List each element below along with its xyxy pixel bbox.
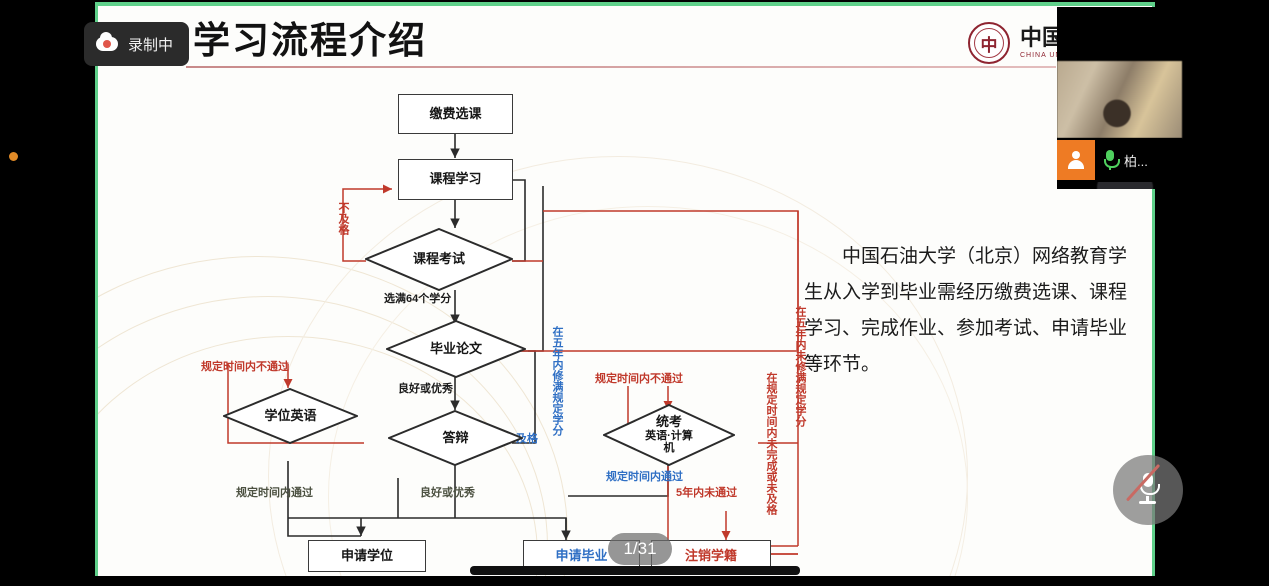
screen-share-stage: 学习流程介绍 中国 CHINA UNIV 中国石油大学（北京）网络教育学生从入学… <box>0 0 1269 586</box>
video-feed <box>1057 61 1182 138</box>
cloud-record-icon <box>96 37 118 51</box>
edge-label-good-or-excellent-2: 良好或优秀 <box>420 484 475 500</box>
presentation-slide[interactable]: 学习流程介绍 中国 CHINA UNIV 中国石油大学（北京）网络教育学生从入学… <box>95 2 1155 582</box>
edge-label-credits-5y-blue: 在五年内修满规定学分 <box>549 326 565 436</box>
edge-label-good-or-excellent-1: 良好或优秀 <box>398 380 453 396</box>
node-defense: 答辩 <box>388 410 523 466</box>
edge-label-credits-64: 选满64个学分 <box>384 290 451 306</box>
edge-label-not-pass-5y: 5年内未通过 <box>676 484 737 500</box>
node-thesis: 毕业论文 <box>386 320 526 378</box>
edge-label-incomplete-red: 在规定时间内未完成或未及格 <box>763 372 779 515</box>
node-apply-degree: 申请学位 <box>308 540 426 572</box>
node-thesis-label: 毕业论文 <box>430 342 482 357</box>
slide-canvas: 学习流程介绍 中国 CHINA UNIV 中国石油大学（北京）网络教育学生从入学… <box>98 6 1152 579</box>
person-icon <box>1057 140 1095 180</box>
flowchart: 缴费选课 课程学习 课程考试 毕业论文 学位英语 答辩 <box>98 6 1155 582</box>
status-dot <box>9 152 18 161</box>
node-course-exam: 课程考试 <box>365 228 513 291</box>
video-tile[interactable]: 柏... <box>1057 7 1269 189</box>
node-course-exam-label: 课程考试 <box>413 252 465 267</box>
video-tile-bar: 柏... <box>1057 138 1182 182</box>
edge-label-not-pass-in-time-left: 规定时间内不通过 <box>201 358 289 374</box>
slide-progress-bar[interactable] <box>470 566 800 575</box>
edge-label-fail: 不及格 <box>335 202 351 235</box>
recording-badge: 录制中 <box>84 22 189 66</box>
edge-label-credits-5y-red: 在五年内未修满规定学分 <box>792 306 808 427</box>
node-degree-english-label: 学位英语 <box>264 409 316 424</box>
edge-label-pass-in-time-left: 规定时间内通过 <box>236 484 313 500</box>
page-indicator: 1/31 <box>608 533 672 565</box>
node-degree-english: 学位英语 <box>223 388 358 444</box>
node-unified-exam-label: 统考 英语·计算 机 <box>645 415 693 455</box>
microphone-muted-icon[interactable] <box>1113 455 1183 525</box>
edge-label-not-pass-in-time-right: 规定时间内不通过 <box>595 370 683 386</box>
node-course-study: 课程学习 <box>398 159 513 200</box>
participant-name: 柏... <box>1124 151 1148 170</box>
node-unified-exam: 统考 英语·计算 机 <box>603 404 735 466</box>
edge-label-pass-in-time-right: 规定时间内通过 <box>606 468 683 484</box>
node-defense-label: 答辩 <box>442 431 468 446</box>
node-pay-select: 缴费选课 <box>398 94 513 134</box>
bottom-letterbox <box>0 576 1269 586</box>
microphone-on-icon[interactable] <box>1104 150 1116 170</box>
recording-label: 录制中 <box>128 34 173 55</box>
